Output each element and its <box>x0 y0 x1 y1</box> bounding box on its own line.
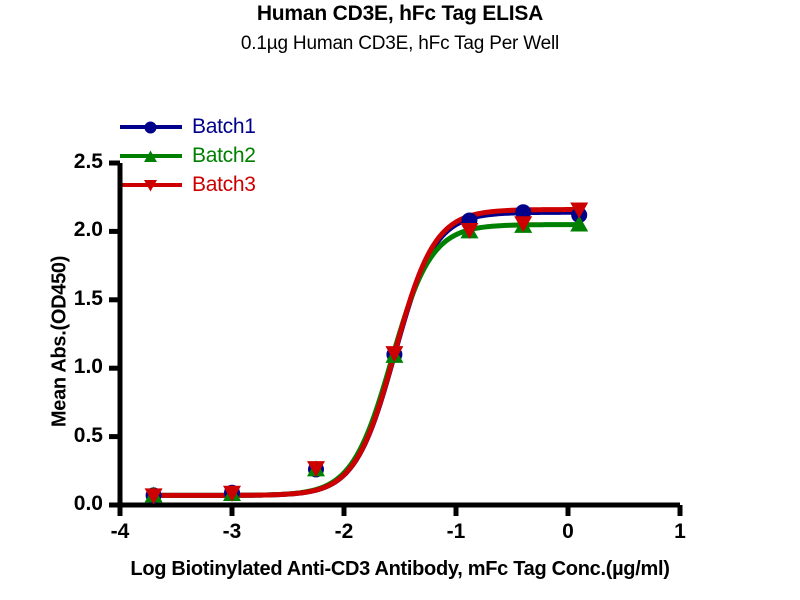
legend-swatch-batch2 <box>120 145 182 167</box>
data-point-batch2 <box>570 216 588 232</box>
data-point-batch1 <box>386 347 402 363</box>
data-point-batch2 <box>307 460 325 476</box>
series-line-batch2 <box>154 225 580 496</box>
legend-label-batch2: Batch2 <box>192 145 256 166</box>
elisa-chart-figure: Human CD3E, hFc Tag ELISA 0.1µg Human CD… <box>0 0 800 600</box>
data-point-batch1 <box>224 485 240 501</box>
series-line-batch1 <box>154 212 580 495</box>
data-point-batch1 <box>571 207 587 223</box>
legend-label-batch3: Batch3 <box>192 174 256 195</box>
x-tick-label: 0 <box>548 520 588 544</box>
triangle-up-marker-icon <box>143 149 158 164</box>
legend-label-batch1: Batch1 <box>192 116 256 137</box>
legend-item-batch1[interactable]: Batch1 <box>120 112 256 141</box>
x-tick-label: -4 <box>100 520 140 544</box>
data-point-batch2 <box>223 485 241 501</box>
y-tick-label: 0.0 <box>43 492 103 516</box>
triangle-down-marker-icon <box>143 178 158 193</box>
x-tick-label: -3 <box>212 520 252 544</box>
y-tick-label: 0.5 <box>43 424 103 448</box>
x-axis-label: Log Biotinylated Anti-CD3 Antibody, mFc … <box>0 558 800 581</box>
chart-subtitle: 0.1µg Human CD3E, hFc Tag Per Well <box>0 33 800 55</box>
series-line-batch3 <box>154 210 580 496</box>
data-point-batch1 <box>308 461 324 477</box>
data-point-batch2 <box>460 222 478 238</box>
data-point-batch3 <box>385 346 403 362</box>
y-tick-label: 2.0 <box>43 218 103 242</box>
y-tick-label: 1.0 <box>43 355 103 379</box>
data-point-batch2 <box>385 347 403 363</box>
data-point-batch2 <box>145 486 163 502</box>
x-tick-label: -1 <box>436 520 476 544</box>
legend-item-batch2[interactable]: Batch2 <box>120 141 256 170</box>
chart-title: Human CD3E, hFc Tag ELISA <box>0 2 800 26</box>
y-tick-label: 1.5 <box>43 287 103 311</box>
data-point-batch1 <box>515 204 531 220</box>
data-point-batch1 <box>461 212 477 228</box>
x-tick-label: -2 <box>324 520 364 544</box>
legend-swatch-batch1 <box>120 116 182 138</box>
data-point-batch1 <box>146 487 162 503</box>
data-point-batch3 <box>307 461 325 477</box>
legend-swatch-batch3 <box>120 174 182 196</box>
chart-legend: Batch1 Batch2 Batch3 <box>120 112 256 199</box>
data-point-batch3 <box>460 223 478 239</box>
plot-area <box>0 0 800 600</box>
circle-marker-icon <box>143 120 158 135</box>
data-point-batch3 <box>570 203 588 219</box>
data-point-batch3 <box>514 216 532 232</box>
legend-item-batch3[interactable]: Batch3 <box>120 170 256 199</box>
data-point-batch2 <box>514 217 532 233</box>
data-point-batch3 <box>145 488 163 504</box>
x-tick-label: 1 <box>660 520 700 544</box>
y-tick-label: 2.5 <box>43 150 103 174</box>
data-point-batch3 <box>223 486 241 502</box>
